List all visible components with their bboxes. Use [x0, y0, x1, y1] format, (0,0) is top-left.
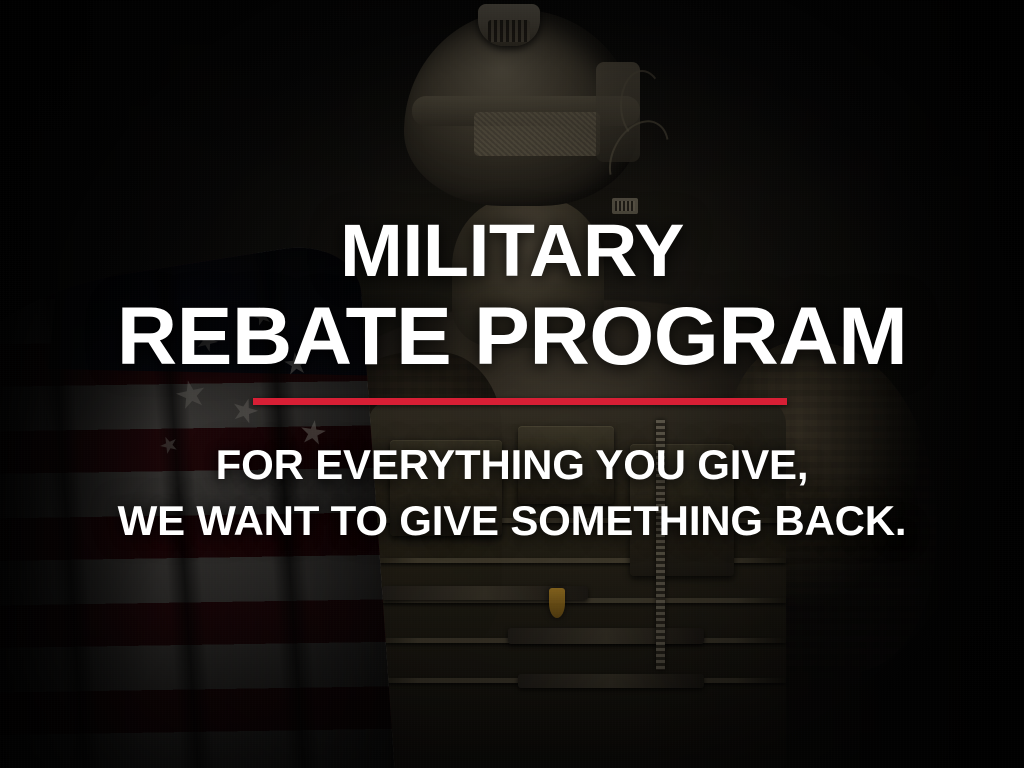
- headline-line-2: REBATE PROGRAM: [0, 297, 1024, 377]
- subheadline-line-2: WE WANT TO GIVE SOMETHING BACK.: [0, 500, 1024, 542]
- military-rebate-banner: MILITARY REBATE PROGRAM FOR EVERYTHING Y…: [0, 0, 1024, 768]
- red-divider-rule: [253, 398, 787, 405]
- text-overlay: MILITARY REBATE PROGRAM FOR EVERYTHING Y…: [0, 0, 1024, 768]
- subheadline-line-1: FOR EVERYTHING YOU GIVE,: [0, 444, 1024, 486]
- headline-line-1: MILITARY: [0, 215, 1024, 288]
